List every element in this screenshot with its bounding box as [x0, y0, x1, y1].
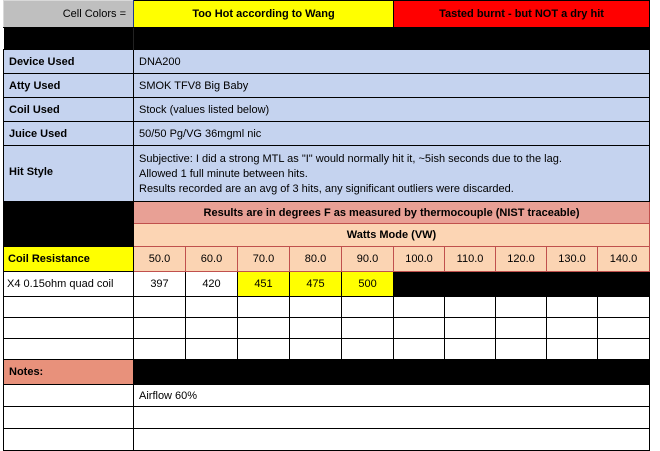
legend-too-hot-banner: Too Hot according to Wang [134, 1, 394, 28]
watt-header-100: 100.0 [394, 247, 445, 272]
data-cell-110 [445, 272, 496, 297]
empty-cell[interactable] [496, 339, 547, 360]
notes-entry-row-3 [4, 429, 650, 451]
empty-cell[interactable] [445, 297, 496, 318]
info-value-hit-style: Subjective: I did a strong MTL as "I" wo… [134, 146, 650, 202]
empty-cell[interactable] [134, 339, 186, 360]
black-spacer-right [134, 28, 650, 50]
empty-cell[interactable] [186, 318, 238, 339]
watt-header-90: 90.0 [342, 247, 394, 272]
empty-cell[interactable] [598, 297, 650, 318]
empty-cell[interactable] [598, 318, 650, 339]
empty-cell[interactable] [342, 339, 394, 360]
coil-resistance-header: Coil Resistance [4, 247, 134, 272]
info-row-atty: Atty Used SMOK TFV8 Big Baby [4, 74, 650, 98]
empty-cell[interactable] [290, 339, 342, 360]
watt-header-120: 120.0 [496, 247, 547, 272]
table-row-empty-3 [4, 339, 650, 360]
info-label-atty: Atty Used [4, 74, 134, 98]
watt-header-row: Coil Resistance 50.0 60.0 70.0 80.0 90.0… [4, 247, 650, 272]
empty-cell[interactable] [445, 339, 496, 360]
info-label-device: Device Used [4, 50, 134, 74]
empty-cell[interactable] [238, 318, 290, 339]
watt-header-70: 70.0 [238, 247, 290, 272]
empty-cell[interactable] [394, 339, 445, 360]
data-cell-130 [547, 272, 598, 297]
coil-name-cell[interactable]: X4 0.15ohm quad coil [4, 272, 134, 297]
notes-entry-text[interactable] [134, 429, 650, 451]
empty-cell[interactable] [598, 339, 650, 360]
mode-band-spacer [4, 224, 134, 247]
info-row-hit-style: Hit Style Subjective: I did a strong MTL… [4, 146, 650, 202]
empty-cell[interactable] [4, 339, 134, 360]
info-row-juice: Juice Used 50/50 Pg/VG 36mgml nic [4, 122, 650, 146]
table-row-empty-2 [4, 318, 650, 339]
empty-cell[interactable] [547, 297, 598, 318]
data-cell-90[interactable]: 500 [342, 272, 394, 297]
data-cell-80[interactable]: 475 [290, 272, 342, 297]
notes-entry-gutter[interactable] [4, 429, 134, 451]
empty-cell[interactable] [238, 339, 290, 360]
watt-header-140: 140.0 [598, 247, 650, 272]
empty-cell[interactable] [134, 297, 186, 318]
hit-style-line-3: Results recorded are an avg of 3 hits, a… [139, 182, 649, 197]
results-note-band: Results are in degrees F as measured by … [134, 202, 650, 224]
watt-header-80: 80.0 [290, 247, 342, 272]
empty-cell[interactable] [496, 297, 547, 318]
data-cell-70[interactable]: 451 [238, 272, 290, 297]
data-cell-50[interactable]: 397 [134, 272, 186, 297]
empty-cell[interactable] [547, 339, 598, 360]
data-cell-140 [598, 272, 650, 297]
notes-header-row: Notes: [4, 360, 650, 385]
empty-cell[interactable] [394, 318, 445, 339]
notes-header-black [134, 360, 650, 385]
mode-band: Watts Mode (VW) [134, 224, 650, 247]
info-label-hit-style: Hit Style [4, 146, 134, 202]
hit-style-line-1: Subjective: I did a strong MTL as "I" wo… [139, 152, 649, 167]
empty-cell[interactable] [186, 339, 238, 360]
empty-cell[interactable] [186, 297, 238, 318]
empty-cell[interactable] [496, 318, 547, 339]
empty-cell[interactable] [4, 297, 134, 318]
empty-cell[interactable] [342, 297, 394, 318]
legend-row: Cell Colors = Too Hot according to Wang … [4, 1, 650, 28]
notes-label: Notes: [4, 360, 134, 385]
empty-cell[interactable] [238, 297, 290, 318]
cell-colors-label: Cell Colors = [4, 1, 134, 28]
results-note-spacer [4, 202, 134, 224]
results-spreadsheet: Cell Colors = Too Hot according to Wang … [3, 0, 650, 451]
empty-cell[interactable] [394, 297, 445, 318]
notes-entry-gutter[interactable] [4, 407, 134, 429]
info-label-coil: Coil Used [4, 98, 134, 122]
data-cell-120 [496, 272, 547, 297]
watt-header-110: 110.0 [445, 247, 496, 272]
data-cell-100 [394, 272, 445, 297]
empty-cell[interactable] [445, 318, 496, 339]
black-spacer-row-top [4, 28, 650, 50]
empty-cell[interactable] [290, 318, 342, 339]
info-row-coil: Coil Used Stock (values listed below) [4, 98, 650, 122]
empty-cell[interactable] [342, 318, 394, 339]
empty-cell[interactable] [290, 297, 342, 318]
table-row-empty-1 [4, 297, 650, 318]
legend-burnt-banner: Tasted burnt - but NOT a dry hit [394, 1, 650, 28]
notes-entry-row-2 [4, 407, 650, 429]
empty-cell[interactable] [134, 318, 186, 339]
info-row-device: Device Used DNA200 [4, 50, 650, 74]
info-value-atty: SMOK TFV8 Big Baby [134, 74, 650, 98]
info-label-juice: Juice Used [4, 122, 134, 146]
table-row: X4 0.15ohm quad coil 397 420 451 475 500 [4, 272, 650, 297]
watt-header-50: 50.0 [134, 247, 186, 272]
watt-header-60: 60.0 [186, 247, 238, 272]
notes-entry-text[interactable] [134, 407, 650, 429]
notes-entry-row-1: Airflow 60% [4, 385, 650, 407]
empty-cell[interactable] [4, 318, 134, 339]
empty-cell[interactable] [547, 318, 598, 339]
info-value-juice: 50/50 Pg/VG 36mgml nic [134, 122, 650, 146]
data-cell-60[interactable]: 420 [186, 272, 238, 297]
watt-header-130: 130.0 [547, 247, 598, 272]
notes-entry-gutter[interactable] [4, 385, 134, 407]
black-spacer-left [4, 28, 134, 50]
results-note-row: Results are in degrees F as measured by … [4, 202, 650, 224]
hit-style-line-2: Allowed 1 full minute between hits. [139, 167, 649, 182]
mode-band-row: Watts Mode (VW) [4, 224, 650, 247]
info-value-coil: Stock (values listed below) [134, 98, 650, 122]
info-value-device: DNA200 [134, 50, 650, 74]
spreadsheet-canvas: Cell Colors = Too Hot according to Wang … [0, 0, 660, 422]
notes-entry-text[interactable]: Airflow 60% [134, 385, 650, 407]
